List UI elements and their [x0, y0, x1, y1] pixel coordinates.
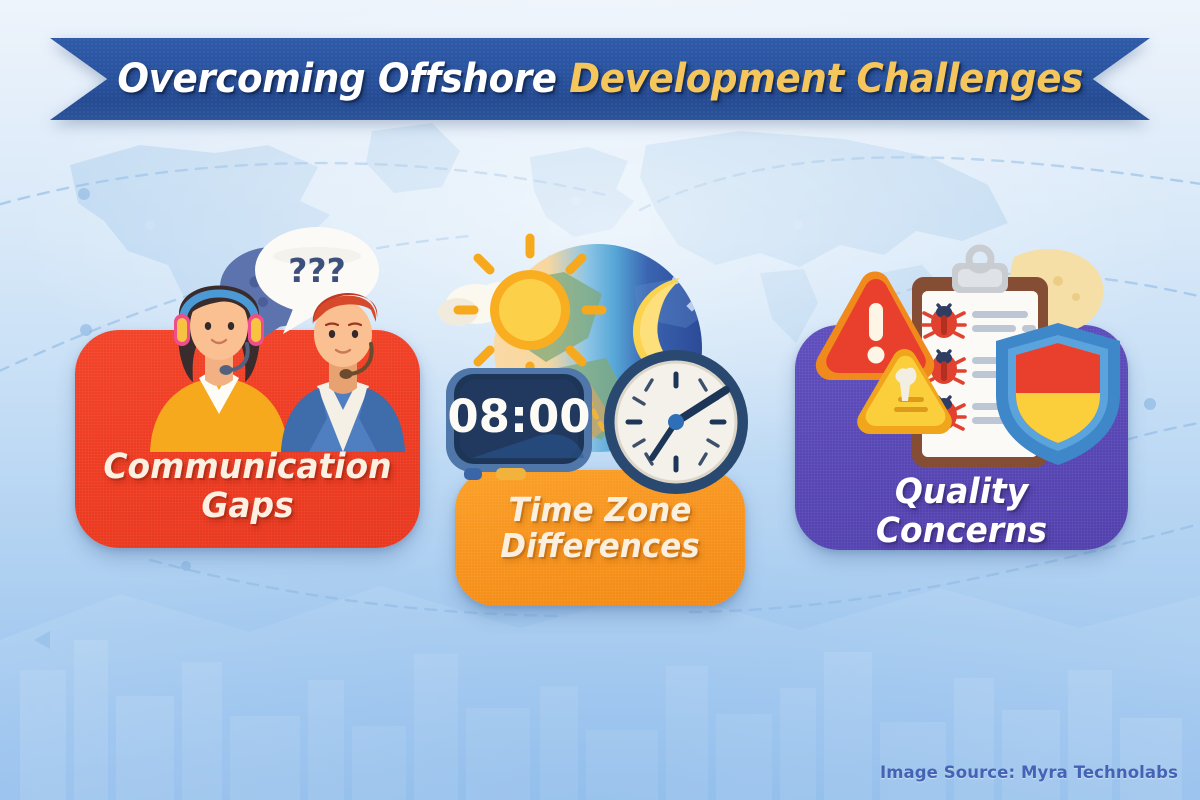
card-time-zone-differences[interactable]: Time Zone Differences — [455, 470, 745, 606]
card-communication-label: Communication Gaps — [85, 448, 409, 525]
card-quality-label-line1: Quality Concerns — [805, 473, 1118, 550]
sun-icon — [458, 238, 602, 382]
card-communication-label-line2: Gaps — [85, 487, 409, 526]
timezone-illustration: 08:00 — [438, 240, 758, 500]
cloud-icon — [438, 282, 522, 326]
card-communication-label-line1: Communication — [85, 448, 409, 487]
card-timezone-label-line1: Time Zone — [464, 492, 737, 528]
title-banner: Overcoming Offshore Development Challeng… — [50, 38, 1150, 120]
card-timezone-label: Time Zone Differences — [464, 492, 737, 565]
digital-clock-icon: 08:00 — [446, 368, 592, 480]
speech-bubble-question-marks: ??? — [288, 251, 345, 290]
page-title-accent: Development Challenges — [569, 56, 1083, 102]
digital-clock-time: 08:00 — [447, 390, 590, 443]
infographic-canvas: Overcoming Offshore Development Challeng… — [0, 0, 1200, 800]
globe-day-night-icon — [494, 244, 758, 458]
image-source-credit: Image Source: Myra Technolabs — [880, 763, 1178, 782]
headset-band-icon — [183, 294, 255, 323]
moon-icon — [633, 278, 694, 380]
card-timezone-label-line2: Differences — [464, 528, 737, 564]
card-communication-gaps[interactable]: Communication Gaps — [75, 330, 420, 548]
challenge-cards-row: Communication Gaps Time Zone Differences… — [0, 0, 1200, 800]
page-title: Overcoming Offshore Development Challeng… — [117, 56, 1083, 102]
page-title-primary: Overcoming Offshore — [117, 56, 569, 102]
card-quality-label: Quality Concerns — [805, 473, 1118, 550]
card-quality-concerns[interactable]: Quality Concerns — [795, 325, 1128, 550]
question-speech-bubble-icon: ??? — [255, 227, 379, 334]
